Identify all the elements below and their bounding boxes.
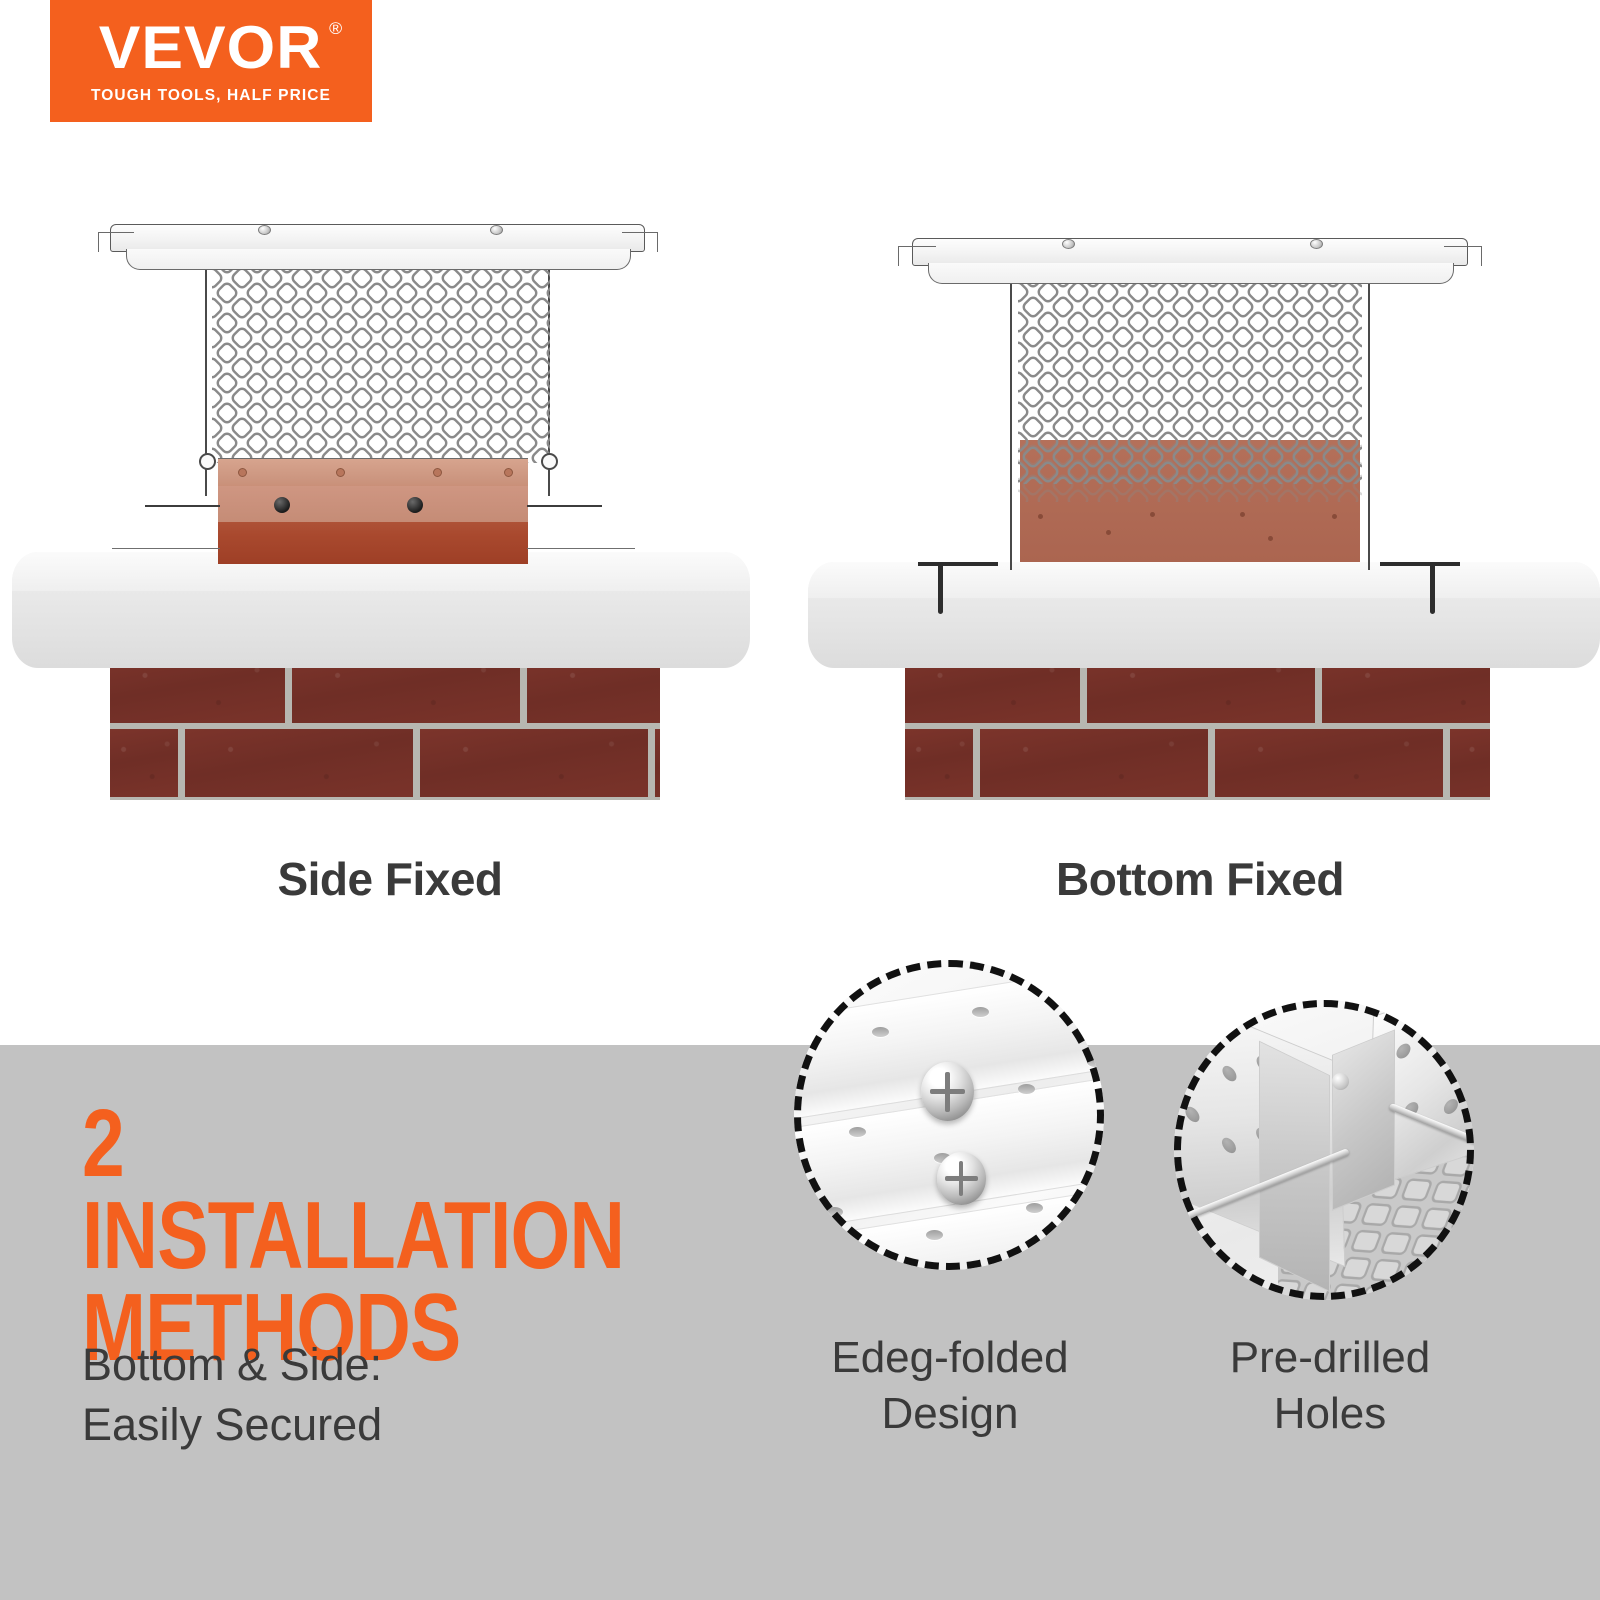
caption-side-fixed: Side Fixed: [170, 852, 610, 906]
anchor-plate-right: [1380, 562, 1460, 566]
chimney-cap-lid-bottom: [912, 238, 1468, 264]
lid-tip-left: [898, 246, 899, 266]
banner-headline: 2 INSTALLATION METHODS: [82, 1098, 642, 1374]
bracket-eye-left: [199, 453, 216, 470]
support-rod-left: [1010, 262, 1012, 570]
concrete-crown-side: [12, 552, 750, 668]
side-screw-head-2: [407, 497, 423, 513]
brand-name: VEVOR ®: [99, 18, 323, 78]
side-bracket-rod-right: [527, 505, 602, 507]
side-bracket-rod-left: [145, 505, 220, 507]
illustration-bottom-fixed: [790, 200, 1600, 800]
product-infographic: VEVOR ® TOUGH TOOLS, HALF PRICE: [0, 0, 1600, 1600]
band-lower-face: [218, 486, 528, 522]
side-foot-left: [112, 548, 220, 549]
side-screw-head-1: [274, 497, 290, 513]
registered-trademark-icon: ®: [330, 20, 344, 37]
support-rod-right: [1368, 262, 1370, 570]
illustration-side-fixed: [0, 200, 780, 800]
lid-fastener-1: [1062, 239, 1075, 249]
lid-tip-right: [1481, 246, 1482, 266]
banner-subline: Bottom & Side: Easily Secured: [82, 1335, 642, 1455]
lid-fastener-2: [1310, 239, 1323, 249]
anchor-plate-left: [918, 562, 998, 566]
caption-pre-drilled: Pre-drilled Holes: [1140, 1330, 1520, 1443]
lid-rim-left: [98, 232, 134, 233]
brick-chimney-side: [110, 652, 660, 800]
mesh-over-flue: [1018, 440, 1362, 502]
lid-rim-right: [1444, 246, 1482, 247]
lid-tip-left: [98, 232, 99, 252]
dashed-circle-border: [794, 960, 1104, 1270]
dashed-circle-border: [1174, 1000, 1474, 1300]
lid-fastener-1: [258, 225, 271, 235]
lid-rim-left: [898, 246, 936, 247]
caption-edge-folded: Edeg-folded Design: [760, 1330, 1140, 1443]
detail-circle-pre-drilled: [1174, 1000, 1474, 1300]
lid-skirt-side: [126, 249, 631, 270]
anchor-screw-left: [938, 562, 943, 614]
side-mounting-band: [218, 458, 528, 488]
lid-tip-right: [657, 232, 658, 252]
caption-bottom-fixed: Bottom Fixed: [980, 852, 1420, 906]
lid-rim-right: [622, 232, 658, 233]
chimney-cap-lid-side: [110, 224, 645, 250]
brand-name-text: VEVOR: [99, 14, 323, 81]
concrete-crown-bottom: [808, 562, 1600, 668]
side-foot-right: [527, 548, 635, 549]
brick-chimney-bottom: [905, 652, 1490, 800]
lid-fastener-2: [490, 225, 503, 235]
lid-skirt-bottom: [928, 263, 1454, 284]
detail-circle-edge-folded: [794, 960, 1104, 1270]
diamond-mesh-screen-side: [212, 248, 550, 463]
brand-logo: VEVOR ® TOUGH TOOLS, HALF PRICE: [50, 0, 372, 122]
brand-tagline: TOUGH TOOLS, HALF PRICE: [91, 87, 331, 105]
bracket-eye-right: [541, 453, 558, 470]
anchor-screw-right: [1430, 562, 1435, 614]
